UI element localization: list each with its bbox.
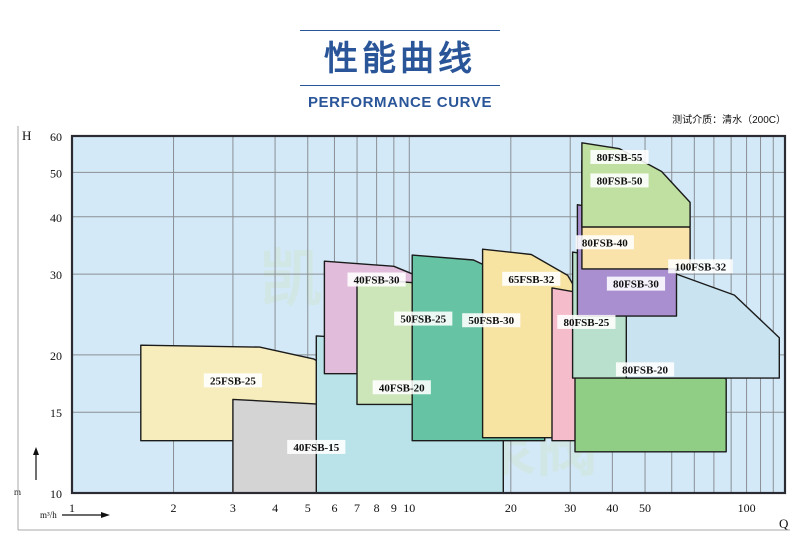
region-label-100fsb-32: 100FSB-32 <box>668 259 733 273</box>
x-axis-ticks: 1234567891020304050100 <box>69 501 756 515</box>
svg-text:40FSB-30: 40FSB-30 <box>354 274 400 286</box>
y-axis-arrowhead <box>33 447 39 455</box>
region-label-80fsb-20: 80FSB-20 <box>616 362 674 376</box>
region-label-50fsb-30: 50FSB-30 <box>462 313 520 327</box>
y-tick-40: 40 <box>50 211 62 225</box>
y-tick-30: 30 <box>50 268 62 282</box>
svg-text:80FSB-50: 80FSB-50 <box>597 175 643 187</box>
y-axis-ticks: 10152030405060 <box>50 130 62 501</box>
x-axis-arrowhead <box>101 512 110 518</box>
y-tick-50: 50 <box>50 166 62 180</box>
x-tick-6: 6 <box>331 501 337 515</box>
region-label-80fsb-30: 80FSB-30 <box>607 277 665 291</box>
region-label-80fsb-40: 80FSB-40 <box>576 235 634 249</box>
region-label-80fsb-55: 80FSB-55 <box>590 150 648 164</box>
region-label-40fsb-20: 40FSB-20 <box>373 380 431 394</box>
x-tick-8: 8 <box>374 501 380 515</box>
x-axis-unit: m³/h <box>40 510 57 520</box>
svg-text:50FSB-30: 50FSB-30 <box>468 315 514 327</box>
x-tick-2: 2 <box>171 501 177 515</box>
region-label-40fsb-30: 40FSB-30 <box>347 272 405 286</box>
performance-chart: 凯 凯旋泵阀 25FSB-2540FSB-1540FSB-2040FSB-305… <box>0 0 800 549</box>
svg-text:40FSB-15: 40FSB-15 <box>293 442 339 454</box>
svg-text:80FSB-25: 80FSB-25 <box>563 317 609 329</box>
x-tick-40: 40 <box>606 501 618 515</box>
x-tick-5: 5 <box>305 501 311 515</box>
svg-text:100FSB-32: 100FSB-32 <box>675 261 727 273</box>
svg-text:80FSB-30: 80FSB-30 <box>613 279 659 291</box>
svg-text:80FSB-40: 80FSB-40 <box>582 237 628 249</box>
svg-text:25FSB-25: 25FSB-25 <box>210 375 256 387</box>
svg-text:65FSB-32: 65FSB-32 <box>508 274 554 286</box>
x-tick-4: 4 <box>272 501 278 515</box>
region-label-25fsb-25: 25FSB-25 <box>204 373 262 387</box>
x-tick-50: 50 <box>639 501 651 515</box>
region-label-65fsb-32: 65FSB-32 <box>502 272 560 286</box>
x-axis-label: Q <box>779 516 789 531</box>
region-label-80fsb-50: 80FSB-50 <box>590 173 648 187</box>
x-tick-1: 1 <box>69 501 75 515</box>
x-tick-7: 7 <box>354 501 360 515</box>
y-tick-60: 60 <box>50 130 62 144</box>
region-label-50fsb-25: 50FSB-25 <box>394 312 452 326</box>
x-tick-9: 9 <box>391 501 397 515</box>
y-tick-10: 10 <box>50 487 62 501</box>
svg-text:80FSB-20: 80FSB-20 <box>622 364 668 376</box>
x-tick-3: 3 <box>230 501 236 515</box>
x-tick-10: 10 <box>403 501 415 515</box>
x-tick-20: 20 <box>505 501 517 515</box>
region-label-40fsb-15: 40FSB-15 <box>287 440 345 454</box>
y-axis-label: H <box>22 128 31 143</box>
svg-text:50FSB-25: 50FSB-25 <box>400 314 446 326</box>
y-tick-20: 20 <box>50 349 62 363</box>
y-tick-15: 15 <box>50 406 62 420</box>
x-tick-100: 100 <box>738 501 756 515</box>
x-tick-30: 30 <box>564 501 576 515</box>
svg-text:40FSB-20: 40FSB-20 <box>379 382 425 394</box>
region-label-80fsb-25: 80FSB-25 <box>557 315 615 329</box>
watermark-mark-1: 凯 <box>260 245 322 314</box>
svg-text:80FSB-55: 80FSB-55 <box>597 152 643 164</box>
performance-curve-page: 性能曲线 PERFORMANCE CURVE 测试介质：清水（200C） 凯 凯… <box>0 0 800 549</box>
